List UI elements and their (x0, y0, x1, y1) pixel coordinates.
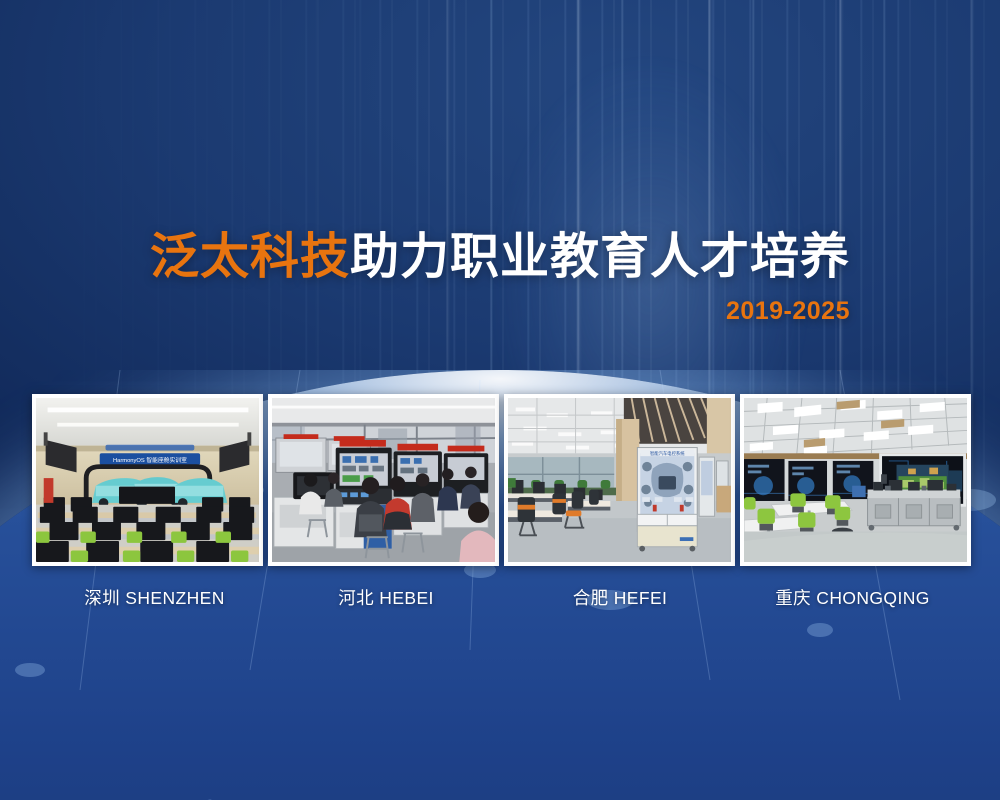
page-title: 泛太科技助力职业教育人才培养 (0, 232, 1000, 283)
headline-block: 泛太科技助力职业教育人才培养 2019-2025 (0, 232, 1000, 326)
svg-text:HarmonyOS 智能座舱实训室: HarmonyOS 智能座舱实训室 (113, 456, 187, 464)
photo-hebei[interactable] (268, 394, 499, 566)
gallery-item[interactable] (268, 394, 499, 566)
caption-hefei: 合肥 HEFEI (503, 585, 737, 610)
poster-canvas: 泛太科技助力职业教育人才培养 2019-2025 (0, 0, 1000, 800)
display-cabinet-lab-photo-illustration: 智能汽车电控系统 (508, 398, 731, 562)
gallery-item[interactable] (740, 394, 971, 566)
title-brand: 泛太科技 (150, 230, 350, 284)
svg-text:智能汽车电控系统: 智能汽车电控系统 (650, 450, 685, 457)
classroom-photo-illustration: HarmonyOS 智能座舱实训室 (36, 398, 259, 562)
year-range: 2019-2025 (0, 297, 850, 326)
photo-shenzhen[interactable]: HarmonyOS 智能座舱实训室 (32, 394, 263, 566)
gallery-item[interactable]: 智能汽车电控系统 (504, 394, 735, 566)
gallery-captions: 深圳 SHENZHEN 河北 HEBEI 合肥 HEFEI 重庆 CHONGQI… (32, 585, 968, 610)
caption-shenzhen: 深圳 SHENZHEN (40, 585, 269, 610)
photo-chongqing[interactable] (740, 394, 971, 566)
caption-hebei: 河北 HEBEI (269, 585, 503, 610)
photo-hefei[interactable]: 智能汽车电控系统 (504, 394, 735, 566)
gallery-row: HarmonyOS 智能座舱实训室 (32, 394, 968, 566)
gallery-item[interactable]: HarmonyOS 智能座舱实训室 (32, 394, 263, 566)
caption-chongqing: 重庆 CHONGQING (737, 585, 968, 610)
modern-lab-photo-illustration (744, 398, 967, 562)
title-rest: 助力职业教育人才培养 (350, 230, 850, 284)
training-workstations-photo-illustration (272, 398, 495, 562)
